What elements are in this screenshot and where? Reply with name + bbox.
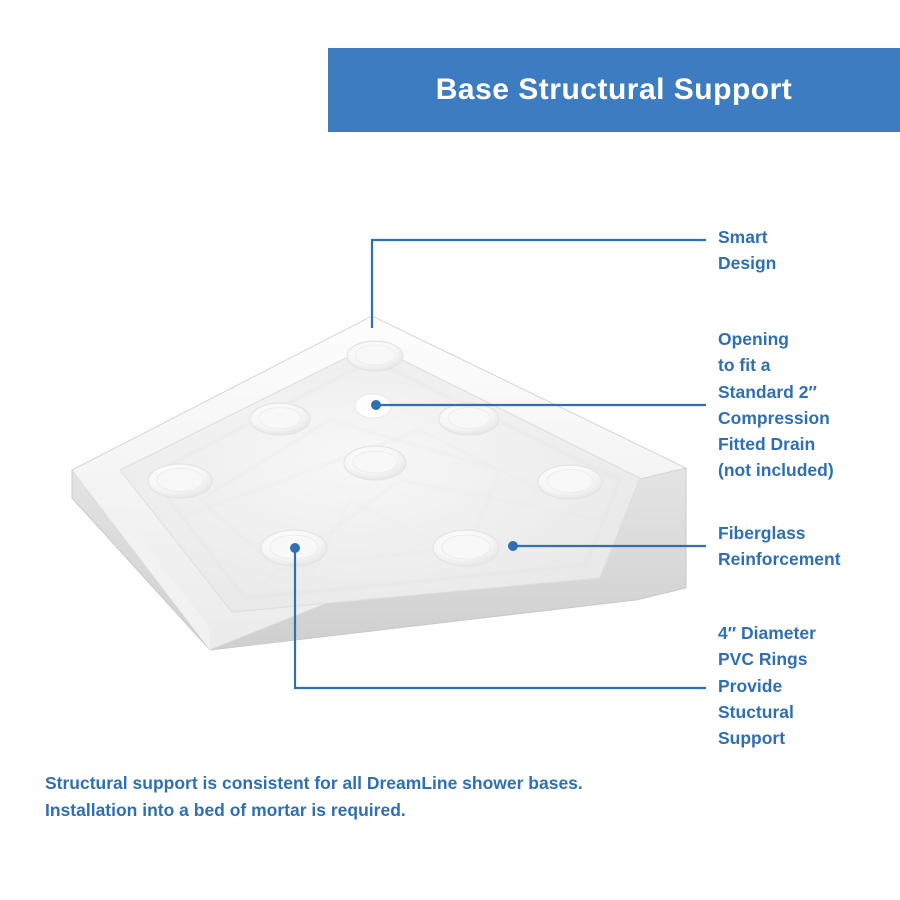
pvc-ring — [433, 530, 499, 566]
pvc-ring — [250, 403, 310, 435]
pvc-ring — [538, 465, 602, 499]
pvc-ring — [344, 446, 406, 480]
callout-label-pvc-rings: 4″ Diameter PVC Rings Provide Stuctural … — [718, 620, 898, 751]
pvc-ring — [347, 341, 403, 371]
pvc-ring — [439, 403, 499, 435]
callout-label-opening: Opening to fit a Standard 2″ Compression… — [718, 326, 898, 484]
footer-note: Structural support is consistent for all… — [45, 770, 605, 824]
leader-line-smart-design — [372, 240, 706, 328]
pvc-ring — [148, 464, 212, 498]
callout-label-fiberglass: Fiberglass Reinforcement — [718, 520, 898, 573]
callout-label-smart-design: Smart Design — [718, 224, 898, 277]
